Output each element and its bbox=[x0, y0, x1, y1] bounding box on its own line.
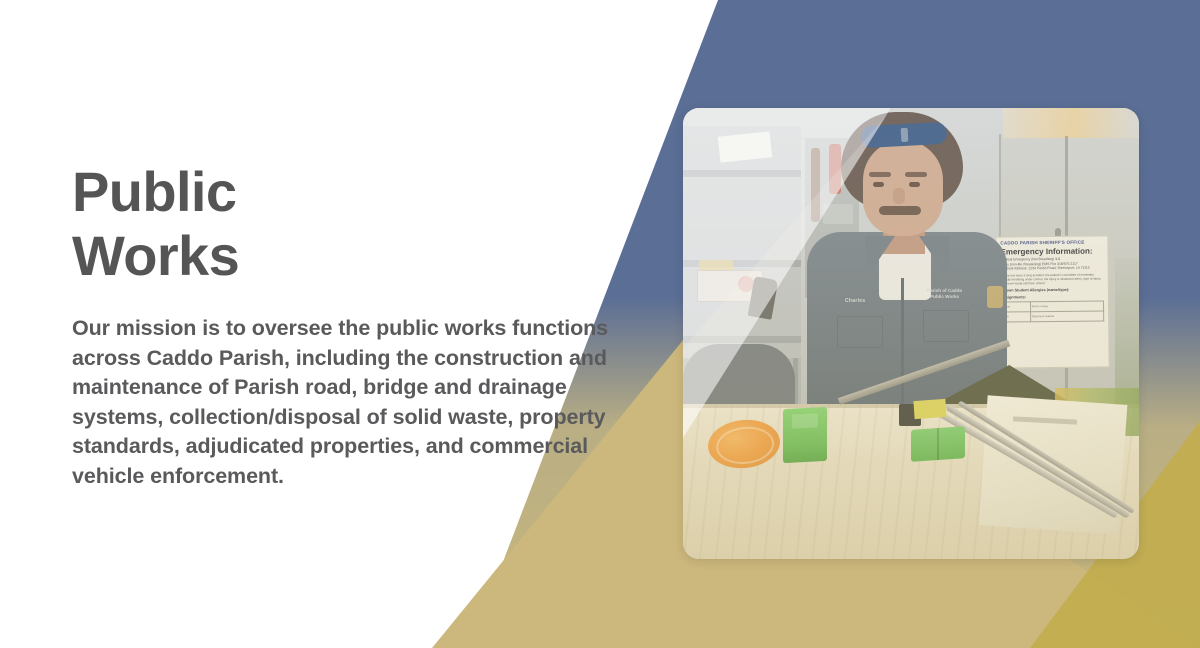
copy-block: Public Works Our mission is to oversee t… bbox=[72, 160, 652, 491]
slide-canvas: CADDO PARISH SHERIFF'S OFFICE Emergency … bbox=[0, 0, 1200, 648]
page-title: Public Works bbox=[72, 160, 652, 288]
feature-photo-card: CADDO PARISH SHERIFF'S OFFICE Emergency … bbox=[683, 108, 1139, 559]
feature-photo: CADDO PARISH SHERIFF'S OFFICE Emergency … bbox=[683, 108, 1139, 559]
mission-statement: Our mission is to oversee the public wor… bbox=[72, 314, 642, 491]
